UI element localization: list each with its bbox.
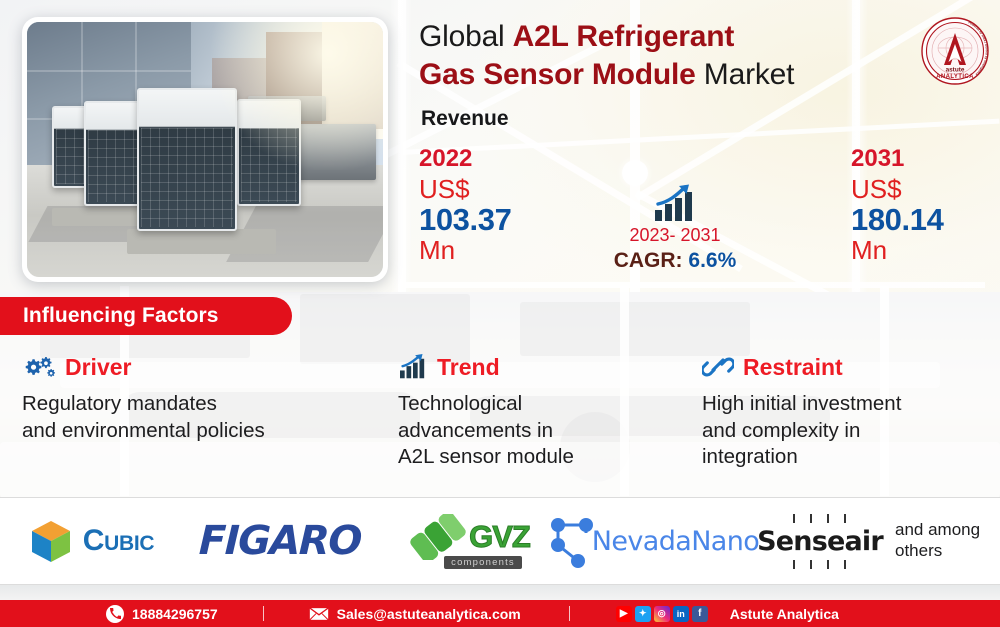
cubic-wordmark: CUBIC (83, 524, 155, 558)
gvz-subtext: components (444, 556, 522, 569)
cagr-value: 6.6% (688, 249, 736, 272)
factor-restraint-body-line1: High initial investment (702, 391, 1000, 418)
factor-restraint: Restraint High initial investment and co… (702, 352, 1000, 492)
page-title: Global A2L Refrigerant Gas Sensor Module… (419, 18, 919, 94)
factor-driver-header: Driver (22, 352, 396, 382)
factor-trend-body: Technological advancements in A2L sensor… (398, 391, 702, 471)
factor-driver: Driver Regulatory mandates and environme… (0, 352, 396, 492)
factor-trend-body-line2: advancements in (398, 418, 702, 445)
title-emph-2: Gas Sensor Module (419, 58, 696, 91)
astute-analytica-logo: astute ANALYTICA Powered by Data | Guide… (921, 17, 989, 85)
logo-nevadanano: NevadaNano (560, 498, 745, 584)
cubic-text-big: C (83, 524, 104, 557)
instagram-icon[interactable]: ◎ (654, 606, 670, 622)
gvz-logo: GVZ components (410, 514, 530, 569)
logo-gvz: GVZ components (380, 498, 560, 584)
hero-image (22, 17, 388, 282)
forecast-unit: Mn (851, 237, 943, 265)
hero-image-content (27, 22, 383, 277)
logo-figaro: FIGARO (180, 498, 380, 584)
footer-email[interactable]: Sales@astuteanalytica.com (309, 606, 521, 622)
footer-brand: Astute Analytica (730, 606, 839, 622)
photo-concrete-pad (127, 229, 277, 255)
factor-driver-body-line1: Regulatory mandates (22, 391, 396, 418)
nevadanano-logo: NevadaNano (546, 513, 759, 569)
factor-driver-body-line2: and environmental policies (22, 418, 396, 445)
photo-wall-line (27, 70, 191, 72)
company-logos-row: CUBIC FIGARO GVZ components (0, 498, 1000, 584)
title-plain-1: Global (419, 20, 513, 53)
factor-restraint-title: Restraint (743, 356, 843, 379)
forecast-value: 180.14 (851, 204, 943, 237)
cubic-cube-icon (26, 516, 76, 566)
title-plain-2: Market (696, 58, 795, 91)
influencing-factors-list: Driver Regulatory mandates and environme… (0, 352, 1000, 492)
footer-bar: 18884296757 Sales@astuteanalytica.com ▶ … (0, 600, 1000, 627)
forecast-year: 2031 (851, 146, 943, 172)
and-among-line2: others (895, 541, 980, 562)
factor-trend-body-line1: Technological (398, 391, 702, 418)
figaro-wordmark: FIGARO (198, 518, 361, 564)
footer-email-text: Sales@astuteanalytica.com (337, 606, 521, 622)
revenue-forecast-year-block: 2031 US$ 180.14 Mn (851, 146, 943, 264)
factor-trend-title: Trend (437, 356, 500, 379)
svg-text:ANALYTICA: ANALYTICA (936, 74, 974, 80)
photo-sun-flare (205, 22, 383, 170)
cagr-label: CAGR: (614, 249, 683, 272)
gears-icon (22, 354, 56, 380)
factor-restraint-body-line2: and complexity in (702, 418, 1000, 445)
footer-brand-text: Astute Analytica (730, 606, 839, 622)
nevadanano-node-icon (546, 513, 598, 569)
base-year: 2022 (419, 146, 511, 172)
factor-trend: Trend Technological advancements in A2L … (396, 352, 702, 492)
footer-phone-text: 18884296757 (132, 606, 218, 622)
senseair-dashes-top (757, 514, 883, 523)
base-value: 103.37 (419, 204, 511, 237)
footer-divider-2 (569, 606, 570, 621)
logo-cubic: CUBIC (0, 498, 180, 584)
bar-chart-growth-icon (652, 183, 698, 223)
forecast-currency: US$ (851, 176, 943, 204)
footer-social-links[interactable]: ▶ ✦ ◎ in f (616, 606, 708, 622)
cubic-text-small: UBIC (104, 532, 154, 555)
youtube-icon[interactable]: ▶ (616, 606, 632, 622)
infographic-canvas: Global A2L Refrigerant Gas Sensor Module… (0, 0, 1000, 627)
gvz-row: GVZ (410, 514, 530, 560)
gvz-mark-icon (410, 514, 466, 560)
divider-below-logos (0, 584, 1000, 585)
footer-phone[interactable]: 18884296757 (106, 605, 218, 623)
cagr-block: 2023- 2031 CAGR: 6.6% (595, 183, 755, 274)
factor-driver-body: Regulatory mandates and environmental po… (22, 391, 396, 444)
cagr-period: 2023- 2031 (595, 225, 755, 247)
senseair-logo: Senseair (757, 514, 883, 569)
cagr-value-row: CAGR: 6.6% (595, 247, 755, 274)
senseair-wordmark: Senseair (757, 526, 883, 557)
influencing-factors-banner: Influencing Factors (0, 297, 292, 335)
bar-chart-growth-icon (398, 354, 428, 380)
and-among-line1: and among (895, 520, 980, 541)
background-bottom-strip (0, 585, 1000, 600)
revenue-base-year-block: 2022 US$ 103.37 Mn (419, 146, 511, 264)
and-among-others-text: and among others (895, 520, 980, 561)
revenue-label: Revenue (421, 107, 509, 131)
cubic-logo: CUBIC (26, 516, 155, 566)
envelope-icon (309, 607, 329, 621)
linkedin-icon[interactable]: in (673, 606, 689, 622)
factor-trend-body-line3: A2L sensor module (398, 444, 702, 471)
influencing-factors-label: Influencing Factors (23, 304, 219, 328)
background-beam (405, 282, 985, 288)
phone-icon (106, 605, 124, 623)
gvz-wordmark: GVZ (469, 519, 530, 555)
nevadanano-wordmark: NevadaNano (592, 526, 759, 557)
base-unit: Mn (419, 237, 511, 265)
factor-restraint-body-line3: integration (702, 444, 1000, 471)
chain-link-icon (702, 353, 734, 381)
base-currency: US$ (419, 176, 511, 204)
senseair-dashes-bottom (757, 560, 883, 569)
twitter-icon[interactable]: ✦ (635, 606, 651, 622)
svg-text:astute: astute (946, 67, 965, 74)
factor-restraint-header: Restraint (702, 352, 1000, 382)
footer-divider-1 (263, 606, 264, 621)
factor-trend-header: Trend (398, 352, 702, 382)
title-emph-1: A2L Refrigerant (513, 20, 735, 53)
facebook-icon[interactable]: f (692, 606, 708, 622)
factor-restraint-body: High initial investment and complexity i… (702, 391, 1000, 471)
logo-senseair: Senseair (745, 498, 895, 584)
and-among-others: and among others (895, 498, 1000, 584)
factor-driver-title: Driver (65, 356, 131, 379)
